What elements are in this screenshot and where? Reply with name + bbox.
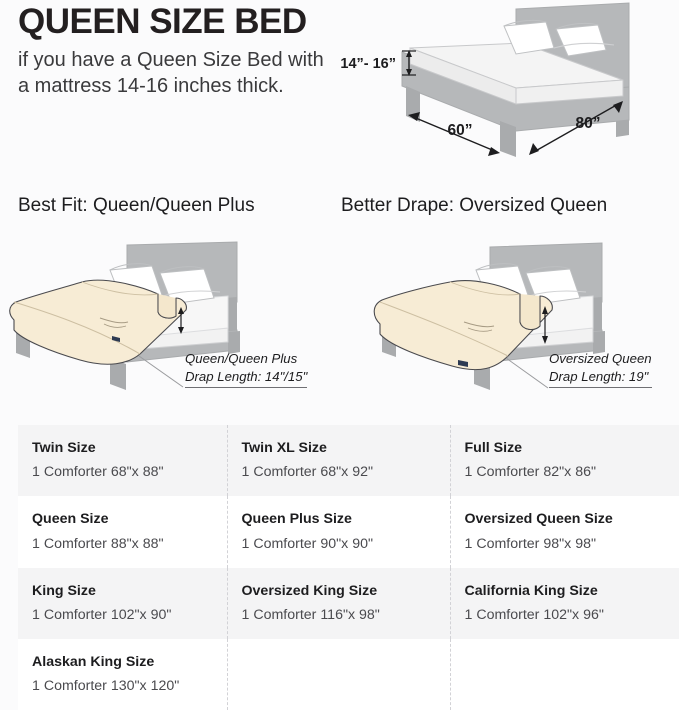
table-cell-empty [227,639,450,710]
size-detail: 1 Comforter 82"x 86" [465,461,679,483]
table-cell: Oversized King Size 1 Comforter 116"x 98… [227,568,450,639]
thickness-dimension-label: 14”- 16” [340,56,396,72]
table-cell: Twin XL Size 1 Comforter 68"x 92" [227,425,450,496]
size-name: Alaskan King Size [32,652,227,673]
better-drape-bed-illustration [340,240,679,415]
table-cell: Queen Plus Size 1 Comforter 90"x 90" [227,496,450,567]
better-drape-callout: Oversized Queen Drap Length: 19" [549,350,652,388]
size-name: Oversized King Size [242,581,450,602]
size-name: Queen Size [32,509,227,530]
bed-with-comforter-icon [340,240,679,415]
size-name: Twin Size [32,438,227,459]
length-dimension-label: 80” [576,115,601,132]
table-cell: King Size 1 Comforter 102"x 90" [18,568,227,639]
size-detail: 1 Comforter 68"x 88" [32,461,227,483]
section-heading-best-fit: Best Fit: Queen/Queen Plus [18,195,255,217]
best-fit-drape-callout: Queen/Queen Plus Drap Length: 14"/15" [185,350,307,388]
table-cell: Twin Size 1 Comforter 68"x 88" [18,425,227,496]
table-cell: Full Size 1 Comforter 82"x 86" [450,425,679,496]
table-row: Alaskan King Size 1 Comforter 130"x 120" [18,639,679,710]
size-detail: 1 Comforter 102"x 96" [465,604,679,626]
size-detail: 1 Comforter 116"x 98" [242,604,450,626]
best-fit-drape-line1: Queen/Queen Plus [185,351,297,366]
size-name: King Size [32,581,227,602]
size-detail: 1 Comforter 98"x 98" [465,533,679,555]
table-cell: California King Size 1 Comforter 102"x 9… [450,568,679,639]
better-drape-line1: Oversized Queen [549,351,652,366]
best-fit-bed-illustration [0,240,340,415]
page-title: QUEEN SIZE BED [18,2,307,42]
table-cell-empty [450,639,679,710]
size-name: Queen Plus Size [242,509,450,530]
size-name: California King Size [465,581,679,602]
size-detail: 1 Comforter 68"x 92" [242,461,450,483]
table-cell: Alaskan King Size 1 Comforter 130"x 120" [18,639,227,710]
table-row: King Size 1 Comforter 102"x 90" Oversize… [18,568,679,639]
size-detail: 1 Comforter 130"x 120" [32,675,227,697]
table-cell: Oversized Queen Size 1 Comforter 98"x 98… [450,496,679,567]
size-detail: 1 Comforter 88"x 88" [32,533,227,555]
size-detail: 1 Comforter 102"x 90" [32,604,227,626]
size-name: Full Size [465,438,679,459]
width-dimension-label: 60” [448,122,473,139]
page-subtitle: if you have a Queen Size Bed with a matt… [18,48,328,99]
best-fit-drape-line2: Drap Length: 14"/15" [185,368,307,389]
bed-size-guide-infographic: QUEEN SIZE BED if you have a Queen Size … [0,0,679,665]
section-heading-better-drape: Better Drape: Oversized Queen [341,195,607,217]
size-detail: 1 Comforter 90"x 90" [242,533,450,555]
bed-isometric-icon: 14”- 16” 60” 80” [340,0,679,180]
size-name: Twin XL Size [242,438,450,459]
table-cell: Queen Size 1 Comforter 88"x 88" [18,496,227,567]
table-row: Twin Size 1 Comforter 68"x 88" Twin XL S… [18,425,679,496]
better-drape-line2: Drap Length: 19" [549,368,652,389]
size-name: Oversized Queen Size [465,509,679,530]
bed-with-comforter-icon [0,240,340,415]
hero-bed-diagram: 14”- 16” 60” 80” [340,0,679,180]
comforter-size-table: Twin Size 1 Comforter 68"x 88" Twin XL S… [18,425,679,710]
table-row: Queen Size 1 Comforter 88"x 88" Queen Pl… [18,496,679,567]
